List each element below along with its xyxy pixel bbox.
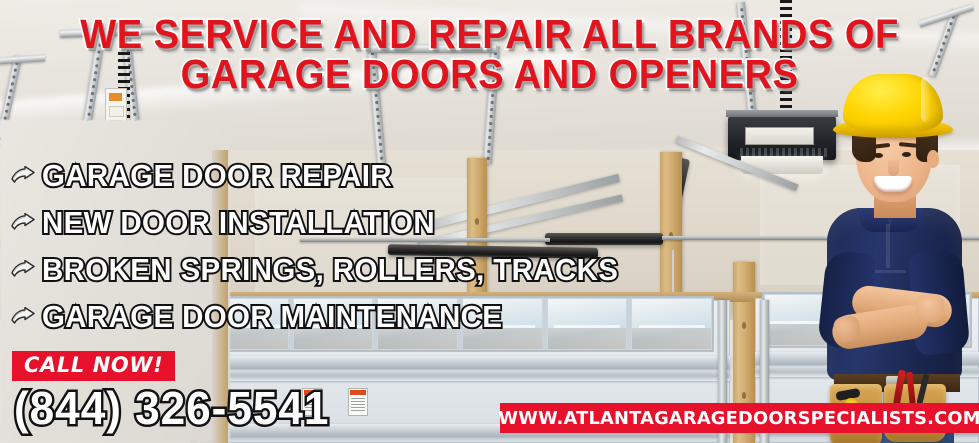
headline-line-2: GARAGE DOORS AND OPENERS xyxy=(34,54,944,94)
technician-smile xyxy=(874,176,912,192)
technician-eye xyxy=(902,152,911,157)
phone-number[interactable]: (844) 326-5541 xyxy=(14,385,329,431)
shirt-pocket xyxy=(872,270,906,273)
shirt-placket xyxy=(886,224,890,268)
call-now-badge[interactable]: CALL NOW! xyxy=(12,351,175,381)
headline-line-1: WE SERVICE AND REPAIR ALL BRANDS OF xyxy=(34,14,944,54)
technician-eye xyxy=(874,153,883,158)
arrow-right-icon xyxy=(8,305,38,329)
technician-ear xyxy=(927,150,939,168)
website-url-text: WWW.ATLANTAGARAGEDOORSPECIALISTS.COM xyxy=(498,408,979,429)
arrow-right-icon xyxy=(8,211,38,235)
technician-nose xyxy=(888,160,899,176)
service-label: BROKEN SPRINGS, ROLLERS, TRACKS xyxy=(42,254,618,285)
technician-photo xyxy=(800,74,979,443)
door-warning-label xyxy=(348,388,368,416)
website-url-bar[interactable]: WWW.ATLANTAGARAGEDOORSPECIALISTS.COM xyxy=(500,403,979,433)
service-item: NEW DOOR INSTALLATION xyxy=(8,199,628,246)
service-item: BROKEN SPRINGS, ROLLERS, TRACKS xyxy=(8,246,628,293)
headline: WE SERVICE AND REPAIR ALL BRANDS OF GARA… xyxy=(34,14,944,94)
service-label: NEW DOOR INSTALLATION xyxy=(42,207,435,238)
service-item: GARAGE DOOR MAINTENANCE xyxy=(8,293,628,340)
service-label: GARAGE DOOR MAINTENANCE xyxy=(42,301,502,332)
arrow-right-icon xyxy=(8,258,38,282)
service-item: GARAGE DOOR REPAIR xyxy=(8,152,628,199)
service-label: GARAGE DOOR REPAIR xyxy=(42,160,392,191)
arrow-right-icon xyxy=(8,164,38,188)
service-list: GARAGE DOOR REPAIR NEW DOOR INSTALLATION… xyxy=(8,152,628,340)
garage-door-service-banner: WE SERVICE AND REPAIR ALL BRANDS OF GARA… xyxy=(0,0,979,443)
